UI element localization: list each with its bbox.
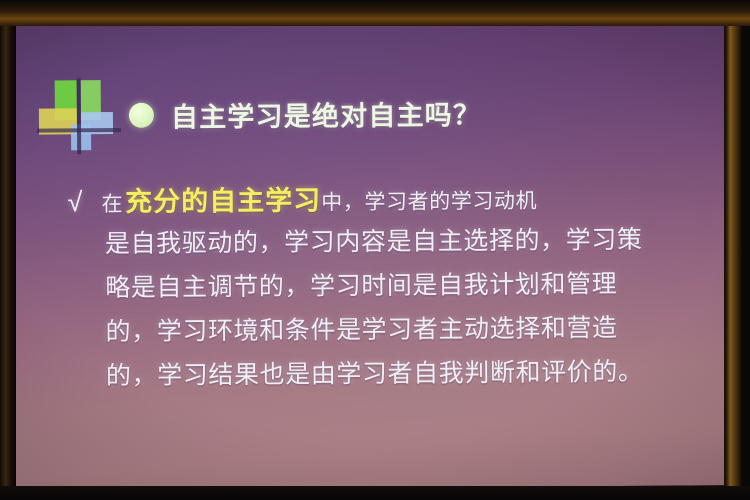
bullet-circle-icon: [129, 103, 154, 128]
presentation-slide: 自主学习是绝对自主吗？ √ 在 充分的自主学习 中，学习者的学习动机 是自我驱动…: [10, 15, 728, 491]
body-line-1-highlight: 充分的自主学习: [125, 178, 321, 219]
room-wall-bottom-edge: [0, 486, 750, 500]
projection-screen: 自主学习是绝对自主吗？ √ 在 充分的自主学习 中，学习者的学习动机 是自我驱动…: [10, 15, 728, 491]
room-wall-left-edge: [0, 0, 16, 500]
body-line-2: 是自我驱动的，学习内容是自主选择的，学习策: [68, 219, 706, 268]
four-square-logo: [37, 78, 122, 155]
check-mark-icon: √: [67, 187, 101, 218]
photograph-of-projection-screen: 自主学习是绝对自主吗？ √ 在 充分的自主学习 中，学习者的学习动机 是自我驱动…: [0, 0, 750, 500]
body-line-1-lead: 在: [101, 188, 125, 218]
room-wall-right-edge: [724, 0, 750, 500]
four-square-logo-svg: [37, 78, 122, 155]
slide-title-row: 自主学习是绝对自主吗？: [129, 93, 481, 135]
body-line-1: √ 在 充分的自主学习 中，学习者的学习动机: [67, 175, 705, 224]
slide-title: 自主学习是绝对自主吗？: [171, 93, 481, 134]
body-line-4: 的，学习环境和条件是学习者主动选择和营造: [68, 307, 706, 356]
body-line-3: 略是自主调节的，学习时间是自我计划和管理: [68, 263, 706, 312]
room-wall-top-edge: [0, 0, 750, 26]
slide-body: √ 在 充分的自主学习 中，学习者的学习动机 是自我驱动的，学习内容是自主选择的…: [67, 175, 707, 400]
body-line-5: 的，学习结果也是由学习者自我判断和评价的。: [69, 351, 707, 400]
body-line-1-tail: 中，学习者的学习动机: [321, 185, 537, 217]
